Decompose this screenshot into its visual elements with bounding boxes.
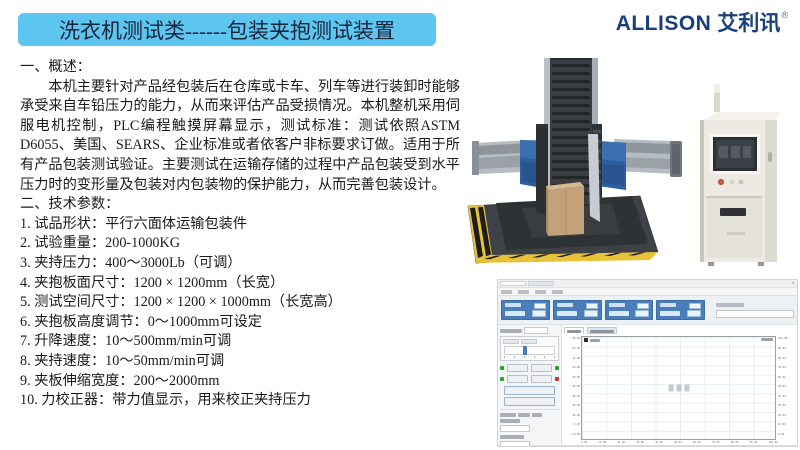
status-indicator-alarm — [555, 377, 559, 381]
plot-area[interactable] — [581, 336, 776, 440]
x-tick: 70.00 — [712, 441, 720, 444]
readout-height[interactable] — [656, 300, 705, 320]
sample-id-field — [500, 419, 559, 432]
product-name-field — [500, 435, 559, 447]
spec-item: 8. 夹持速度：10～50mm/min可调 — [20, 352, 460, 372]
spec-item: 1. 试品形状：平行六面体运输包装件 — [20, 215, 460, 235]
chart-tabs — [564, 327, 795, 334]
menu-item-file[interactable] — [501, 290, 512, 294]
mode-row — [500, 327, 559, 334]
y-tick: 80.00 — [572, 347, 580, 350]
menu-item-tools[interactable] — [535, 290, 546, 294]
sample-id-input[interactable] — [500, 425, 530, 432]
x-tick: 40.00 — [655, 441, 663, 444]
tab-test-data[interactable] — [587, 327, 617, 334]
sample-id-label — [500, 419, 520, 423]
slider-ticks — [504, 356, 555, 358]
test-note-input[interactable] — [716, 310, 794, 318]
spec-item: 7. 升降速度：10～500mm/min可调 — [20, 332, 460, 352]
slider-handle[interactable] — [523, 346, 527, 355]
y-tick: 60.00 — [572, 366, 580, 369]
product-name-label — [500, 435, 524, 439]
readout-zero-button[interactable] — [584, 310, 598, 317]
y2-tick: 20.00 — [778, 414, 786, 417]
test-note-field — [716, 303, 794, 318]
jog-up-button[interactable] — [507, 364, 528, 372]
mode-select[interactable] — [524, 327, 548, 334]
y-axis-right-title — [761, 338, 773, 341]
readout-label — [609, 303, 625, 307]
y2-tick: 90.00 — [778, 347, 786, 350]
software-screenshot: × — [497, 279, 798, 447]
brand-logo: ALLISON 艾利讯 ® — [616, 12, 788, 42]
readout-value — [557, 311, 577, 316]
tab-auto[interactable] — [521, 339, 537, 344]
section-2-heading: 二、技术参数： — [20, 195, 460, 215]
spec-item: 5. 测试空间尺寸：1200 × 1200 × 1000mm（长宽高） — [20, 293, 460, 313]
readout-unit — [637, 303, 649, 309]
y-tick: 0.00 — [574, 423, 580, 426]
y2-tick: 0.00 — [778, 433, 784, 436]
readout-toolbar — [498, 296, 797, 325]
y2-tick: 80.00 — [778, 357, 786, 360]
machine-photo — [462, 56, 798, 271]
readout-unit — [586, 303, 598, 309]
readout-label — [557, 303, 573, 307]
menu-item-settings[interactable] — [518, 290, 529, 294]
section-1-heading: 一、概述： — [20, 58, 460, 78]
readout-displacement[interactable] — [553, 300, 602, 320]
software-titlebar: × — [498, 280, 797, 288]
x-tick: 80.00 — [731, 441, 739, 444]
brand-logo-cjk: 艾利讯 — [717, 12, 780, 36]
y2-tick: 100.00 — [778, 337, 787, 340]
readout-value — [660, 311, 680, 316]
software-main: 90.00 80.00 70.00 60.00 50.00 40.00 30.0… — [498, 325, 797, 445]
legend-swatch-force — [584, 338, 588, 342]
tab-monitor[interactable] — [500, 281, 526, 286]
plot-empty-placeholder — [668, 385, 689, 392]
description-body: 一、概述： 本机主要针对产品经包装后在仓库或卡车、列车等进行装卸时能够承受来自车… — [20, 58, 460, 411]
readout-speed[interactable] — [605, 300, 654, 320]
readout-set-button[interactable] — [635, 310, 649, 317]
x-tick: 100.00 — [769, 441, 778, 444]
readout-label — [660, 303, 676, 307]
start-button[interactable] — [504, 397, 555, 406]
page-title: 洗衣机测试类------包装夹抱测试装置 — [59, 15, 395, 45]
spec-list: 1. 试品形状：平行六面体运输包装件 2. 试验重量：200-1000KG 3.… — [20, 215, 460, 411]
status-indicator-up — [500, 366, 504, 370]
close-icon[interactable]: × — [791, 281, 795, 285]
test-note-label — [716, 303, 744, 307]
y-tick: 90.00 — [572, 337, 580, 340]
readout-zero-button[interactable] — [532, 310, 546, 317]
slide-title-banner: 洗衣机测试类------包装夹抱测试装置 — [18, 13, 436, 46]
y2-tick: 50.00 — [778, 385, 786, 388]
readout-force[interactable] — [501, 300, 550, 320]
menu-item-help[interactable] — [552, 290, 563, 294]
status-indicator-clamp — [500, 377, 504, 381]
clamp-button[interactable] — [507, 375, 528, 383]
y-tick: 50.00 — [572, 376, 580, 379]
readout-unit — [534, 303, 546, 309]
readout-set-button[interactable] — [687, 310, 701, 317]
x-tick: 30.00 — [636, 441, 644, 444]
y-tick: 30.00 — [572, 395, 580, 398]
y-axis-right: 100.00 90.00 80.00 70.00 60.00 50.00 40.… — [776, 336, 795, 440]
jog-tabs — [503, 339, 556, 344]
spec-item: 2. 试验重量：200-1000KG — [20, 234, 460, 254]
spec-item: 10. 力校正器：带力值显示，用来校正夹持压力 — [20, 391, 460, 411]
jog-down-button[interactable] — [531, 364, 552, 372]
spec-item: 3. 夹持压力：400～3000Lb（可调） — [20, 254, 460, 274]
registered-trademark-icon: ® — [781, 10, 788, 20]
reset-button[interactable] — [504, 386, 555, 395]
chart-legend — [584, 338, 600, 342]
y2-tick: 60.00 — [778, 376, 786, 379]
x-tick: 20.00 — [617, 441, 625, 444]
status-indicator-down — [555, 366, 559, 370]
tab-manual[interactable] — [503, 339, 519, 344]
brand-logo-latin: ALLISON — [616, 12, 712, 36]
x-tick: 10.00 — [598, 441, 606, 444]
readout-label — [505, 303, 521, 307]
position-slider[interactable] — [504, 346, 555, 355]
y-tick: 10.00 — [572, 414, 580, 417]
y2-tick: 10.00 — [778, 423, 786, 426]
clamp-release-row — [500, 375, 559, 383]
jog-up-down-row — [500, 364, 559, 372]
y-tick: -10.00 — [571, 433, 580, 436]
control-panel — [498, 325, 562, 445]
spec-item: 6. 夹抱板高度调节：0～1000mm可设定 — [20, 313, 460, 333]
jog-groupbox — [500, 336, 559, 361]
test-mode-row — [500, 413, 559, 417]
readout-value — [505, 311, 525, 316]
tab-settings[interactable] — [528, 281, 554, 286]
x-tick: 90.00 — [750, 441, 758, 444]
readout-value — [609, 311, 629, 316]
y-axis-left: 90.00 80.00 70.00 60.00 50.00 40.00 30.0… — [564, 336, 581, 440]
x-tick: 60.00 — [693, 441, 701, 444]
y2-tick: 70.00 — [778, 366, 786, 369]
software-menubar — [498, 288, 797, 296]
mode-label — [500, 329, 522, 333]
machine-photo-illustration — [462, 56, 798, 271]
tab-curve[interactable] — [564, 327, 584, 334]
carton-specimen — [546, 182, 584, 236]
y-tick: 20.00 — [572, 404, 580, 407]
x-tick: 0.00 — [581, 441, 587, 444]
y-tick: 40.00 — [572, 385, 580, 388]
y2-tick: 40.00 — [778, 395, 786, 398]
y-tick: 70.00 — [572, 357, 580, 360]
readout-unit — [689, 303, 701, 309]
legend-label-force — [590, 339, 600, 342]
spec-item: 9. 夹板伸缩宽度：200～2000mm — [20, 372, 460, 392]
release-button[interactable] — [531, 375, 552, 383]
section-1-paragraph: 本机主要针对产品经包装后在仓库或卡车、列车等进行装卸时能够承受来自车铅压力的能力… — [20, 78, 460, 196]
chart-container: 90.00 80.00 70.00 60.00 50.00 40.00 30.0… — [564, 336, 795, 440]
y2-tick: 30.00 — [778, 404, 786, 407]
spec-item: 4. 夹抱板面尺寸：1200 × 1200mm（长宽） — [20, 274, 460, 294]
chart-panel: 90.00 80.00 70.00 60.00 50.00 40.00 30.0… — [562, 325, 797, 445]
